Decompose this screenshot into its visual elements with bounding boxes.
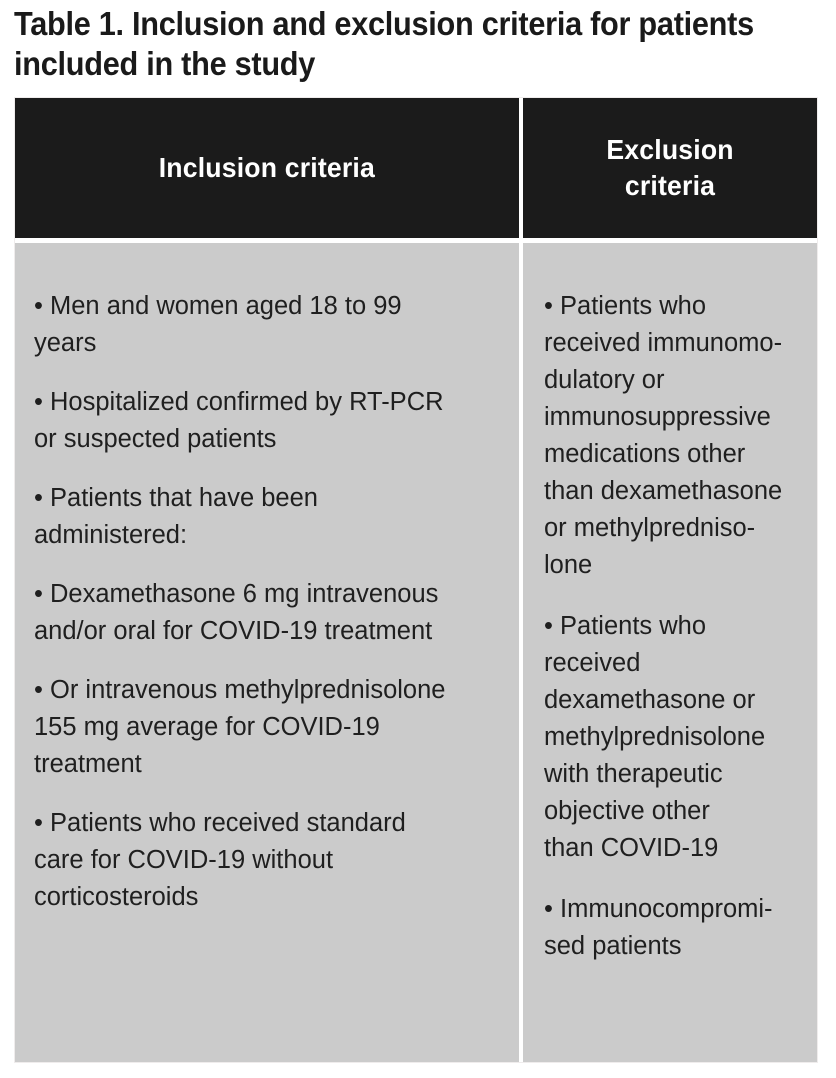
column-exclusion-criteria: Exclusion criteria • Patients who receiv… xyxy=(523,98,817,1062)
list-item: • Men and women aged 18 to 99 years xyxy=(34,288,503,362)
list-item: • Dexamethasone 6 mg intravenous and/or … xyxy=(34,576,503,650)
list-item: • Or intravenous methylprednisolone 155 … xyxy=(34,672,503,783)
header-label-inclusion: Inclusion criteria xyxy=(159,150,375,186)
list-item: • Patients who received immunomo- dulato… xyxy=(544,288,807,584)
list-item: • Patients who received standard care fo… xyxy=(34,805,503,916)
list-item: • Patients who received dexamethasone or… xyxy=(544,608,807,867)
list-item: • Patients that have been administered: xyxy=(34,480,503,554)
list-item: • Hospitalized confirmed by RT-PCR or su… xyxy=(34,384,503,458)
table-caption: Table 1. Inclusion and exclusion criteri… xyxy=(14,4,771,84)
criteria-table: Inclusion criteria • Men and women aged … xyxy=(15,98,817,1062)
body-cell-exclusion: • Patients who received immunomo- dulato… xyxy=(523,243,817,1062)
table-figure: Table 1. Inclusion and exclusion criteri… xyxy=(0,0,836,1078)
header-label-exclusion: Exclusion criteria xyxy=(606,132,733,204)
column-inclusion-criteria: Inclusion criteria • Men and women aged … xyxy=(15,98,519,1062)
header-cell-exclusion: Exclusion criteria xyxy=(523,98,817,238)
list-item: • Immunocompromi- sed patients xyxy=(544,891,807,965)
header-cell-inclusion: Inclusion criteria xyxy=(15,98,519,238)
body-cell-inclusion: • Men and women aged 18 to 99 years • Ho… xyxy=(15,243,519,1062)
